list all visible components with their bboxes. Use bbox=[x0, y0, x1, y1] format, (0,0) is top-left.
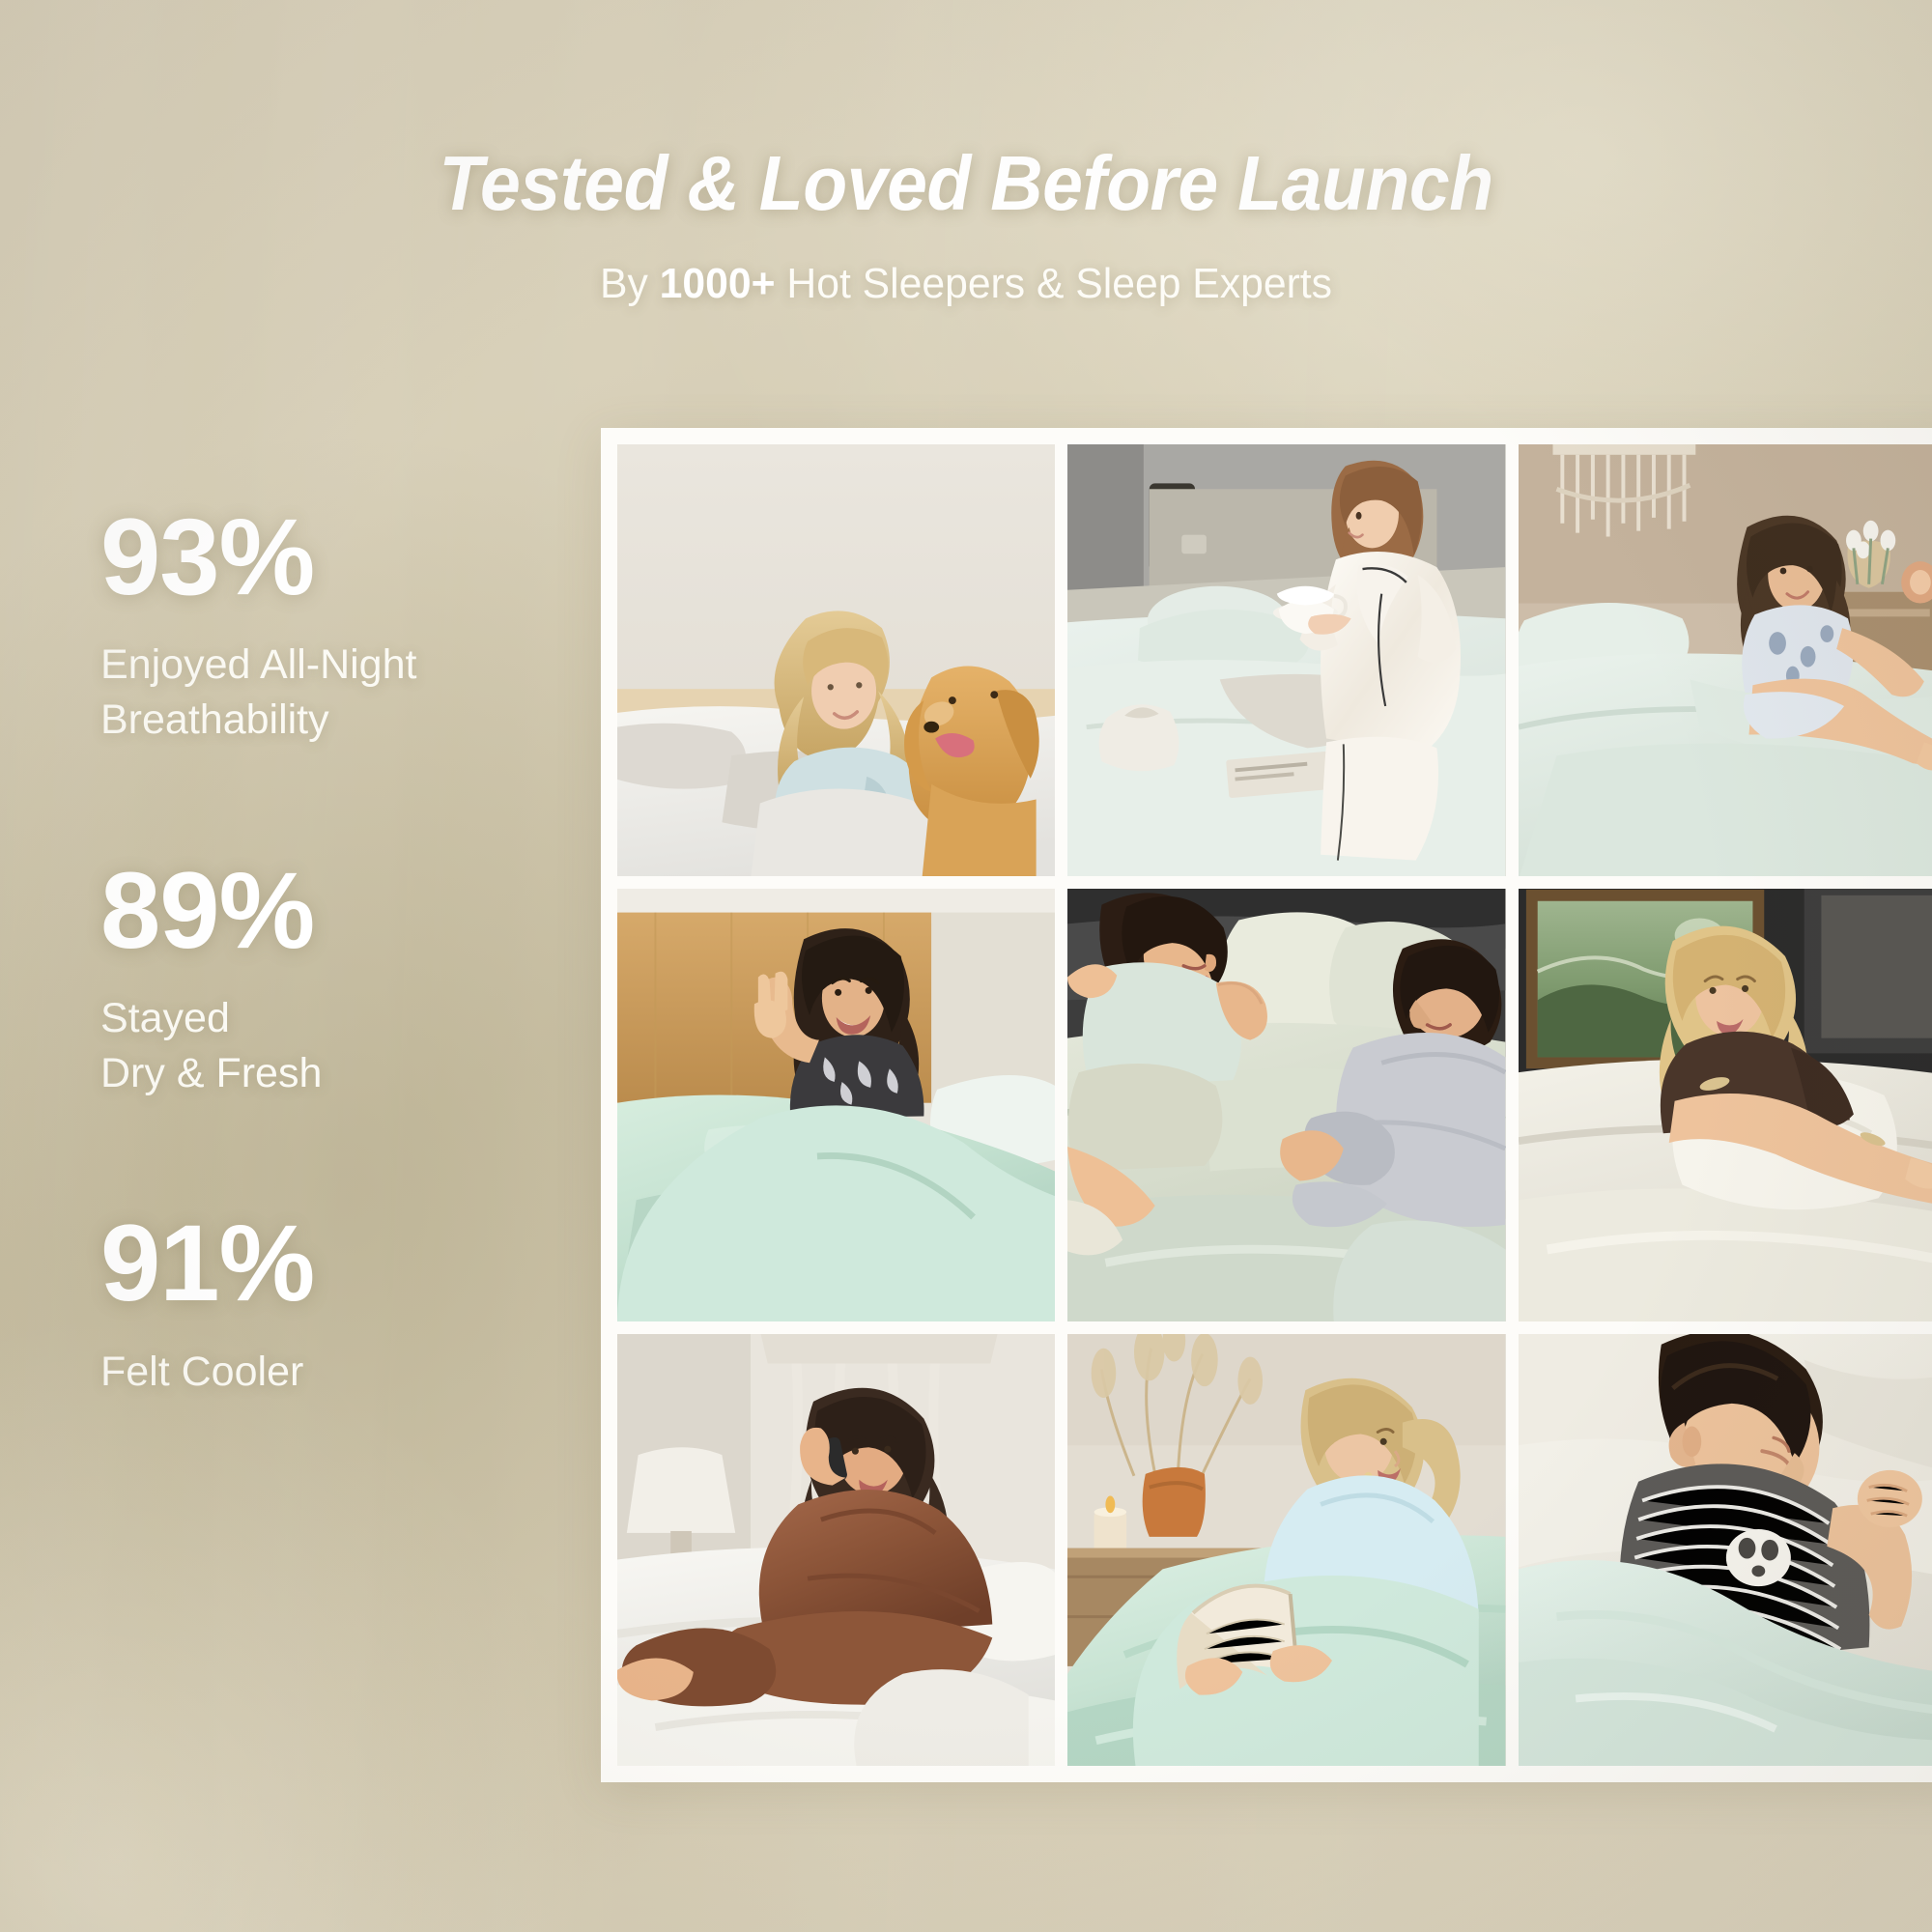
photo-gallery-grid bbox=[601, 428, 1932, 1782]
stat-value: 89% bbox=[100, 856, 554, 966]
gallery-photo bbox=[617, 444, 1055, 876]
gallery-photo bbox=[1067, 444, 1505, 876]
stat-block-breathability: 93% Enjoyed All-Night Breathability bbox=[100, 502, 554, 748]
subtitle-suffix: Hot Sleepers & Sleep Experts bbox=[776, 260, 1332, 307]
subtitle-prefix: By bbox=[600, 260, 660, 307]
stat-value: 91% bbox=[100, 1208, 554, 1319]
stat-label: Enjoyed All-Night Breathability bbox=[100, 638, 554, 748]
photo-toddler-and-adult-sleeping bbox=[1067, 889, 1505, 1321]
gallery-photo bbox=[617, 1334, 1055, 1766]
gallery-photo bbox=[1519, 889, 1932, 1321]
page-subtitle: By 1000+ Hot Sleepers & Sleep Experts bbox=[29, 263, 1903, 305]
photo-woman-peace-sign bbox=[617, 889, 1055, 1321]
photo-woman-with-coffee bbox=[1067, 444, 1505, 876]
gallery-photo bbox=[617, 889, 1055, 1321]
statistics-column: 93% Enjoyed All-Night Breathability 89% … bbox=[100, 502, 554, 1399]
stat-block-dry-fresh: 89% Stayed Dry & Fresh bbox=[100, 856, 554, 1101]
gallery-photo bbox=[1519, 444, 1932, 876]
gallery-photo bbox=[1067, 1334, 1505, 1766]
photo-woman-reclining bbox=[1519, 444, 1932, 876]
photo-woman-brown-top bbox=[1519, 889, 1932, 1321]
header: Tested & Loved Before Launch By 1000+ Ho… bbox=[0, 0, 1932, 305]
stat-block-felt-cooler: 91% Felt Cooler bbox=[100, 1208, 554, 1399]
photo-sleeping-baby bbox=[1519, 1334, 1932, 1766]
subtitle-highlight: 1000+ bbox=[660, 260, 776, 307]
photo-woman-reading-book bbox=[1067, 1334, 1505, 1766]
stat-label: Stayed Dry & Fresh bbox=[100, 991, 554, 1101]
photo-woman-on-phone bbox=[617, 1334, 1055, 1766]
gallery-photo bbox=[1519, 1334, 1932, 1766]
stat-label: Felt Cooler bbox=[100, 1345, 554, 1400]
gallery-photo bbox=[1067, 889, 1505, 1321]
poster-canvas: Tested & Loved Before Launch By 1000+ Ho… bbox=[0, 0, 1932, 1932]
photo-woman-with-dog bbox=[617, 444, 1055, 876]
stat-value: 93% bbox=[100, 502, 554, 612]
page-title: Tested & Loved Before Launch bbox=[58, 145, 1874, 222]
